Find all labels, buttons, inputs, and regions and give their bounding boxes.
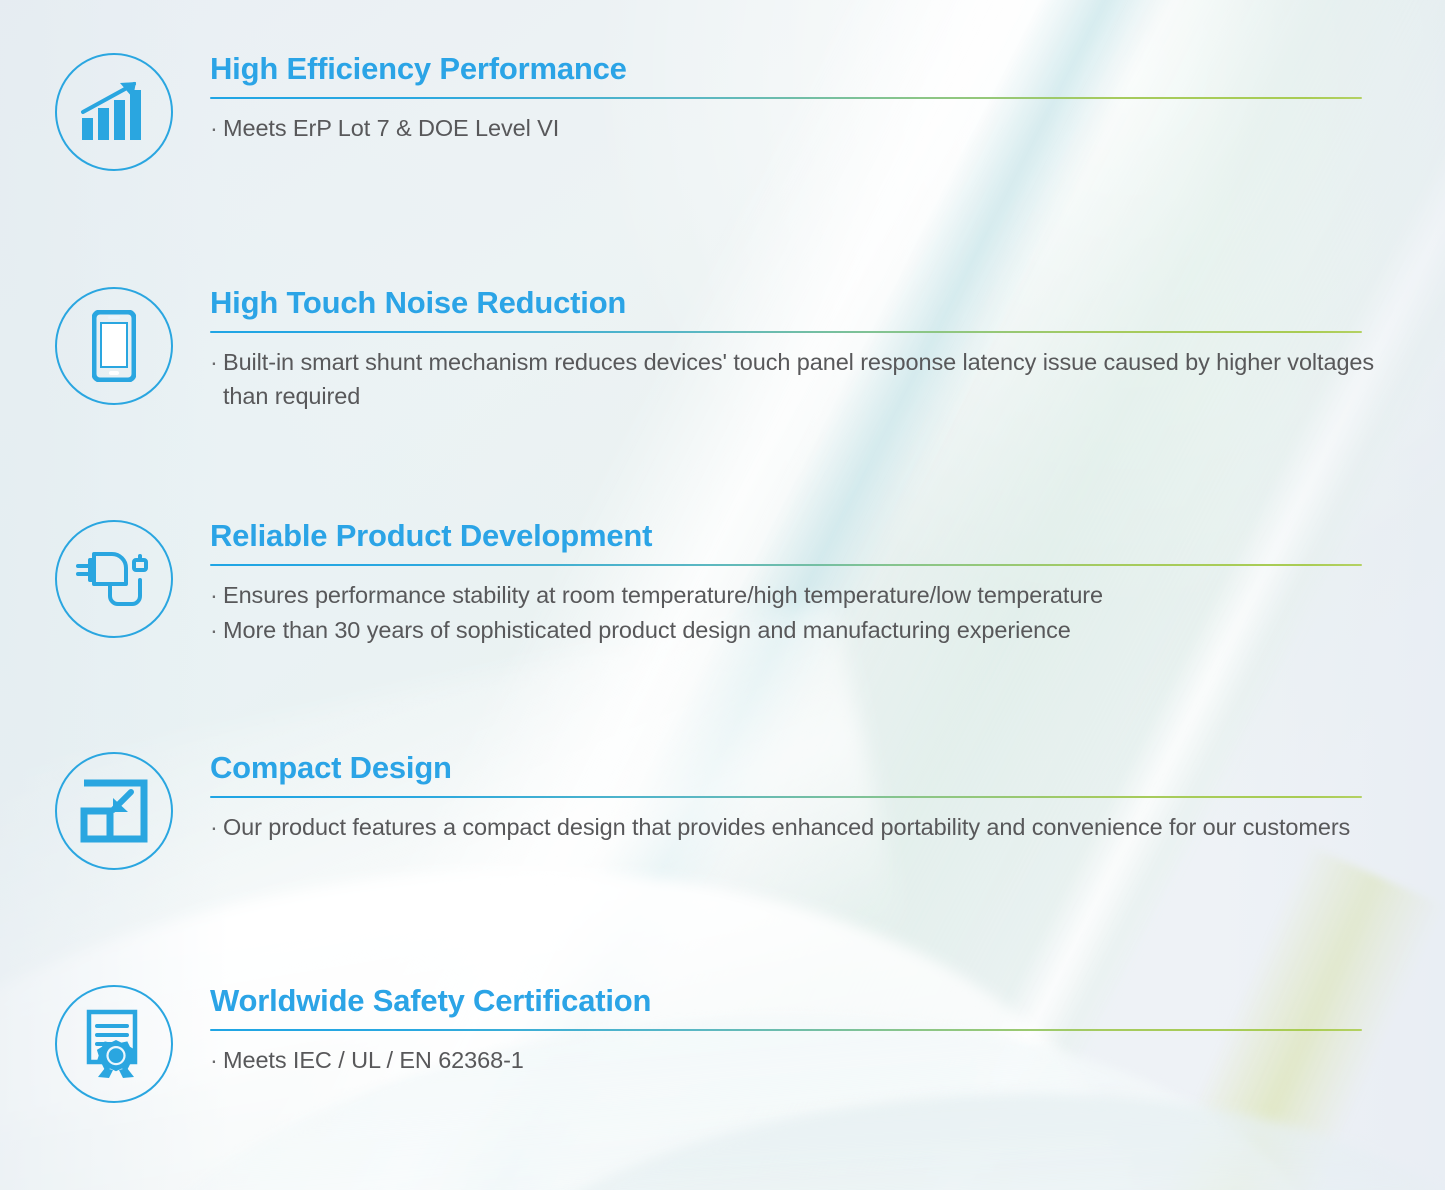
feature-title: Reliable Product Development bbox=[210, 519, 1378, 554]
feature-icon-wrapper bbox=[48, 513, 180, 645]
feature-icon-wrapper bbox=[48, 46, 180, 178]
smartphone-icon bbox=[55, 287, 173, 405]
feature-bullets: · Our product features a compact design … bbox=[210, 811, 1378, 844]
feature-body: High Efficiency Performance · Meets ErP … bbox=[210, 46, 1378, 146]
bullet-marker: · bbox=[210, 614, 223, 647]
feature-item-reliable-product-development: Reliable Product Development · Ensures p… bbox=[48, 513, 1378, 647]
feature-body: High Touch Noise Reduction · Built-in sm… bbox=[210, 280, 1378, 413]
feature-title: High Touch Noise Reduction bbox=[210, 286, 1378, 321]
feature-bullets: · Built-in smart shunt mechanism reduces… bbox=[210, 346, 1378, 413]
bullet-text: Meets IEC / UL / EN 62368-1 bbox=[223, 1044, 1378, 1077]
bullet-marker: · bbox=[210, 1044, 223, 1077]
bullet-item: · More than 30 years of sophisticated pr… bbox=[210, 614, 1378, 647]
bullet-item: · Meets IEC / UL / EN 62368-1 bbox=[210, 1044, 1378, 1077]
bullet-text: More than 30 years of sophisticated prod… bbox=[223, 614, 1378, 647]
bullet-marker: · bbox=[210, 579, 223, 612]
bullet-item: · Our product features a compact design … bbox=[210, 811, 1378, 844]
feature-item-compact-design: Compact Design · Our product features a … bbox=[48, 745, 1378, 877]
feature-bullets: · Meets ErP Lot 7 & DOE Level VI bbox=[210, 112, 1378, 145]
feature-highlights-slide: High Efficiency Performance · Meets ErP … bbox=[0, 0, 1445, 1190]
feature-divider bbox=[210, 564, 1362, 567]
compact-resize-icon bbox=[55, 752, 173, 870]
feature-divider bbox=[210, 331, 1362, 334]
feature-divider bbox=[210, 796, 1362, 799]
feature-icon-wrapper bbox=[48, 280, 180, 412]
feature-icon-wrapper bbox=[48, 978, 180, 1110]
certificate-seal-icon bbox=[55, 985, 173, 1103]
bar-chart-growth-icon bbox=[55, 53, 173, 171]
feature-title: High Efficiency Performance bbox=[210, 52, 1378, 87]
bullet-text: Ensures performance stability at room te… bbox=[223, 579, 1378, 612]
feature-body: Reliable Product Development · Ensures p… bbox=[210, 513, 1378, 647]
bullet-text: Built-in smart shunt mechanism reduces d… bbox=[223, 346, 1378, 413]
power-adapter-icon bbox=[55, 520, 173, 638]
bullet-marker: · bbox=[210, 811, 223, 844]
bullet-text: Our product features a compact design th… bbox=[223, 811, 1378, 844]
bullet-item: · Meets ErP Lot 7 & DOE Level VI bbox=[210, 112, 1378, 145]
bullet-item: · Built-in smart shunt mechanism reduces… bbox=[210, 346, 1378, 413]
feature-divider bbox=[210, 97, 1362, 100]
feature-list: High Efficiency Performance · Meets ErP … bbox=[0, 0, 1445, 1190]
bullet-marker: · bbox=[210, 112, 223, 145]
feature-title: Compact Design bbox=[210, 751, 1378, 786]
feature-bullets: · Ensures performance stability at room … bbox=[210, 579, 1378, 647]
bullet-marker: · bbox=[210, 346, 223, 413]
feature-icon-wrapper bbox=[48, 745, 180, 877]
feature-item-high-efficiency-performance: High Efficiency Performance · Meets ErP … bbox=[48, 46, 1378, 178]
bullet-text: Meets ErP Lot 7 & DOE Level VI bbox=[223, 112, 1378, 145]
feature-item-high-touch-noise-reduction: High Touch Noise Reduction · Built-in sm… bbox=[48, 280, 1378, 413]
feature-bullets: · Meets IEC / UL / EN 62368-1 bbox=[210, 1044, 1378, 1077]
feature-title: Worldwide Safety Certification bbox=[210, 984, 1378, 1019]
feature-body: Worldwide Safety Certification · Meets I… bbox=[210, 978, 1378, 1078]
feature-body: Compact Design · Our product features a … bbox=[210, 745, 1378, 845]
bullet-item: · Ensures performance stability at room … bbox=[210, 579, 1378, 612]
feature-divider bbox=[210, 1029, 1362, 1032]
feature-item-worldwide-safety-certification: Worldwide Safety Certification · Meets I… bbox=[48, 978, 1378, 1110]
